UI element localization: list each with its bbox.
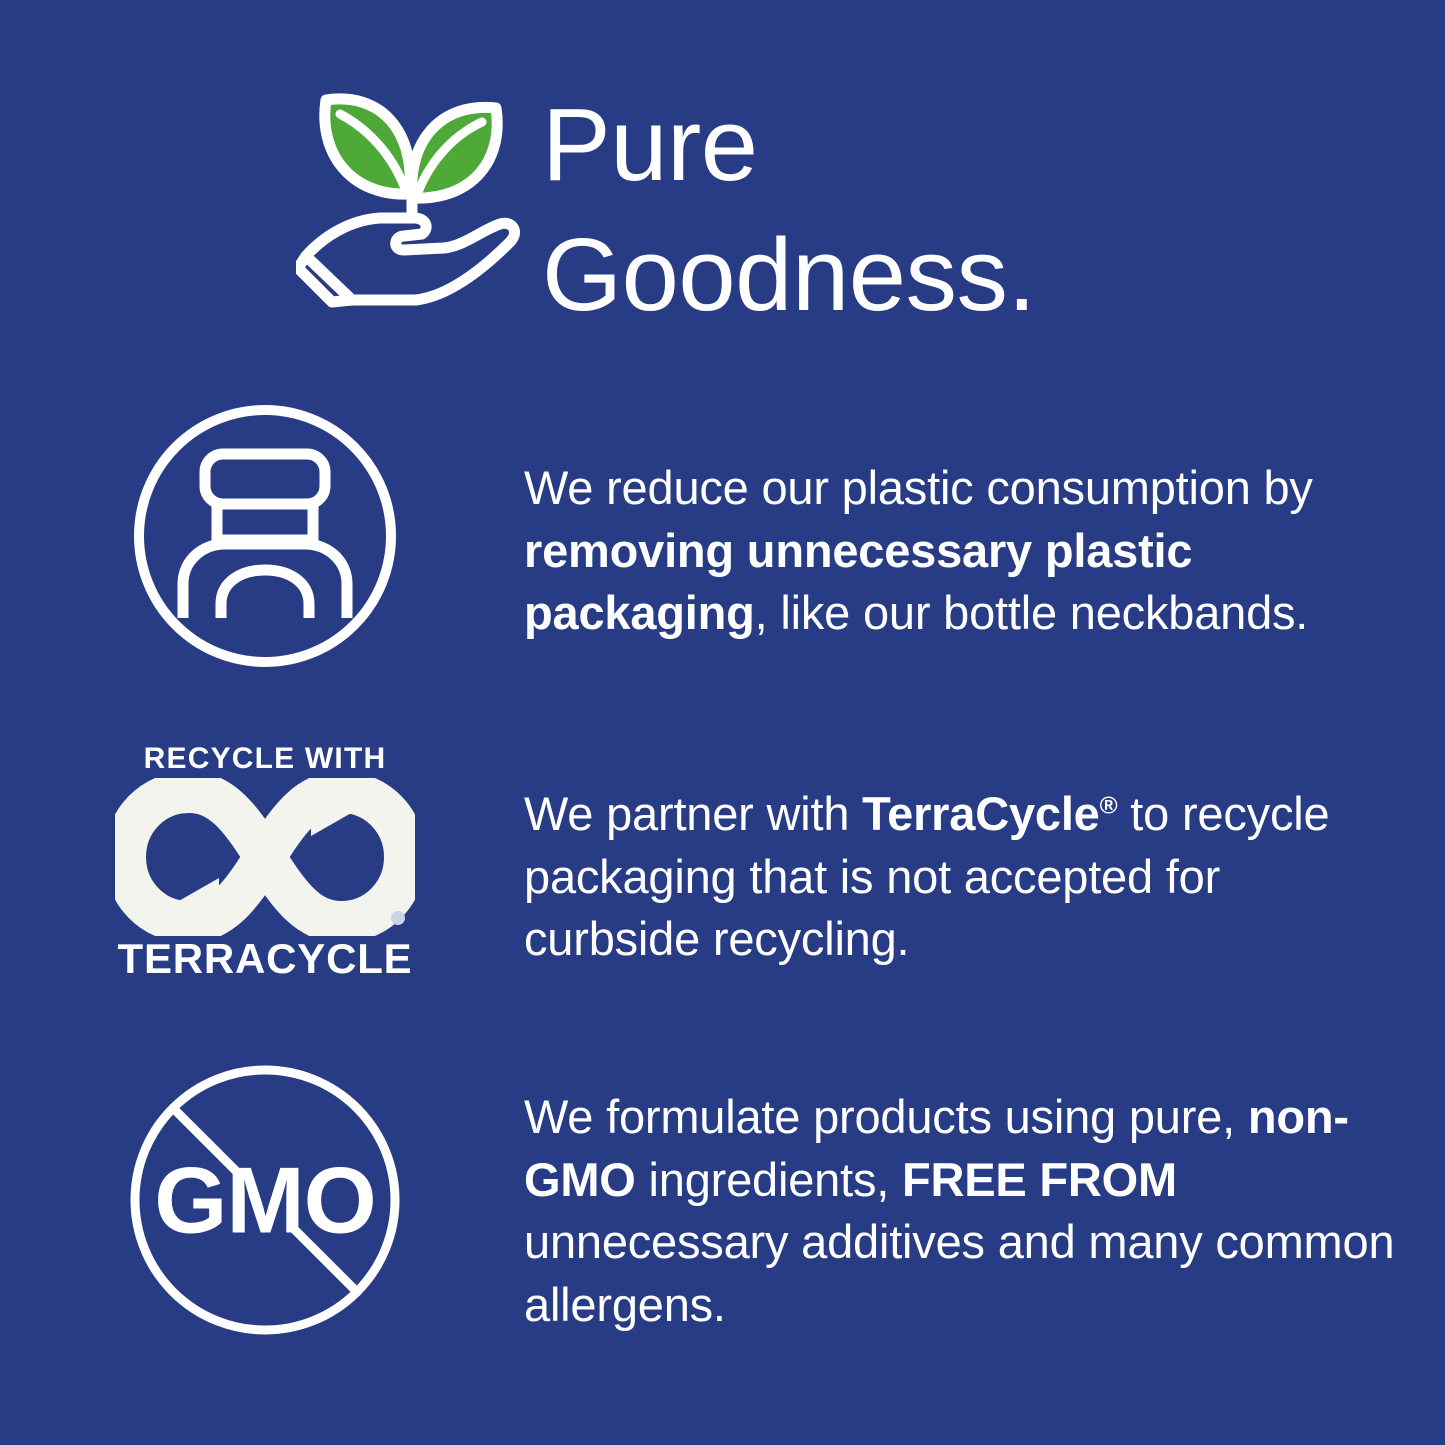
feature-row-terracycle: RECYCLE WITH TERRACYCLE We par [0, 740, 1445, 980]
hand-holding-sprout-icon [296, 78, 528, 308]
no-gmo-icon: GMO [125, 1060, 405, 1340]
feature-text-segment: ingredients, [636, 1153, 902, 1206]
bottle-neckband-icon [129, 400, 401, 672]
page-title: Pure Goodness. [542, 74, 1036, 340]
feature-icon-wrap: GMO [0, 1060, 524, 1340]
registered-mark: ® [1100, 792, 1118, 819]
feature-text-segment: We formulate products using pure, [524, 1090, 1248, 1143]
pure-goodness-infographic: Pure Goodness. [0, 0, 1445, 1445]
feature-text-segment: We partner with [524, 787, 862, 840]
terracycle-bottom-label: TERRACYCLE [115, 938, 415, 980]
terracycle-top-label: RECYCLE WITH [115, 744, 415, 774]
feature-text-plastic: We reduce our plastic consumption by rem… [524, 400, 1404, 645]
feature-icon-wrap: RECYCLE WITH TERRACYCLE [0, 740, 524, 980]
feature-text-segment: We reduce our plastic consumption by [524, 461, 1313, 514]
feature-text-gmo: We formulate products using pure, non-GM… [524, 1060, 1404, 1336]
feature-text-segment-bold: FREE FROM [902, 1153, 1177, 1206]
feature-row-plastic: We reduce our plastic consumption by rem… [0, 400, 1445, 672]
feature-text-brand: TerraCycle [862, 787, 1100, 840]
feature-row-gmo: GMO We formulate products using pure, no… [0, 1060, 1445, 1340]
gmo-label: GMO [154, 1148, 376, 1253]
terracycle-logo-icon: RECYCLE WITH TERRACYCLE [115, 740, 415, 980]
feature-text-terracycle: We partner with TerraCycle® to recycle p… [524, 740, 1404, 971]
feature-text-segment: , like our bottle neckbands. [755, 586, 1309, 639]
feature-icon-wrap [0, 400, 524, 672]
infinity-loop-icon [115, 778, 415, 936]
feature-text-segment: unnecessary additives and many common al… [524, 1215, 1394, 1331]
brand-lockup: Pure Goodness. [296, 74, 1036, 340]
